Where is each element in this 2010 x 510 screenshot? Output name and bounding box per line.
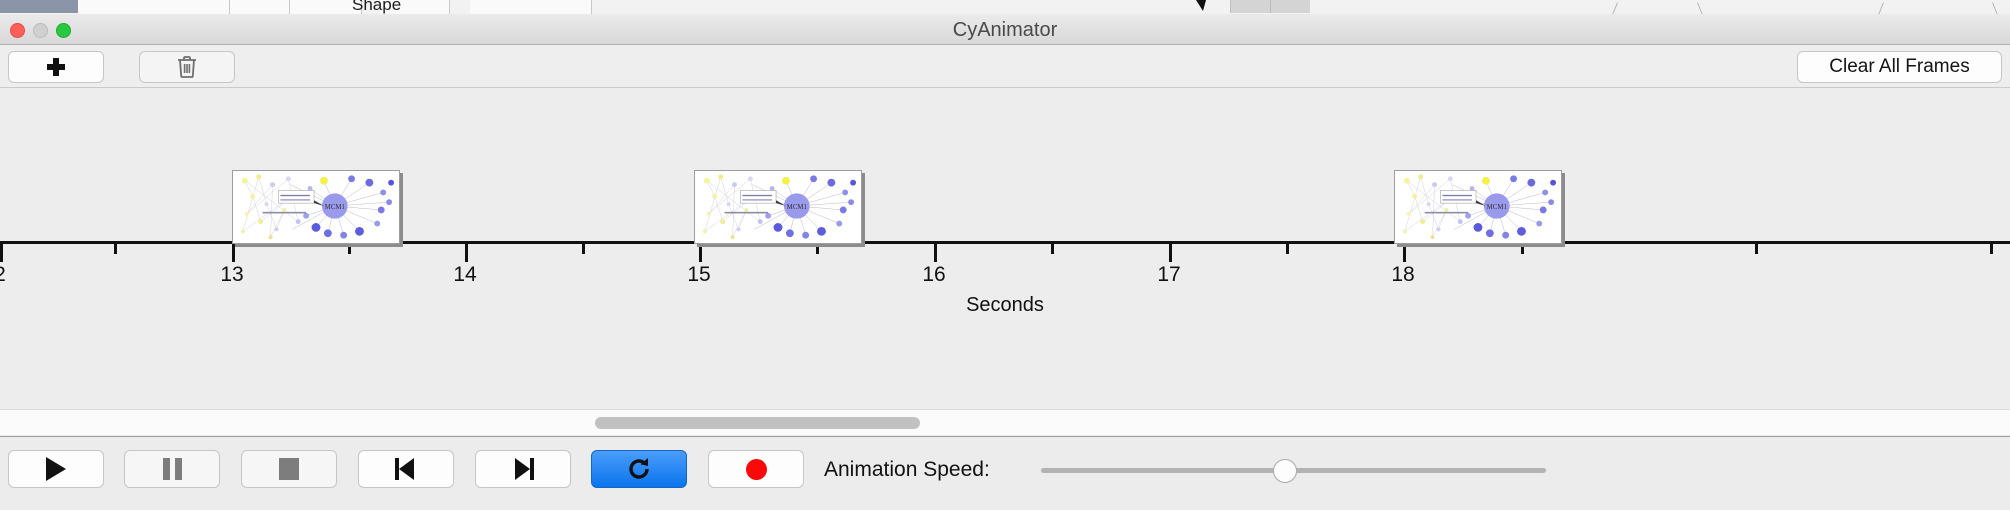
background-divider xyxy=(1697,2,1704,14)
skip-forward-icon xyxy=(512,458,534,480)
window-titlebar: CyAnimator xyxy=(0,14,2010,45)
background-divider xyxy=(1877,2,1884,14)
stop-icon xyxy=(279,458,299,480)
timeline-major-tick xyxy=(0,244,3,262)
timeline-tick-label: 15 xyxy=(687,263,710,287)
timeline-tick-label: 16 xyxy=(922,263,945,287)
svg-text:MCM1: MCM1 xyxy=(1487,204,1508,211)
play-button[interactable] xyxy=(8,450,104,488)
skip-back-icon xyxy=(395,458,417,480)
timeline-tick-label: 13 xyxy=(220,263,243,287)
timeline-tick-label: 17 xyxy=(1157,263,1180,287)
timeline-minor-tick xyxy=(582,244,585,254)
background-tab xyxy=(470,0,592,14)
animation-speed-slider-thumb[interactable] xyxy=(1273,459,1297,483)
timeline-minor-tick xyxy=(1051,244,1054,254)
timeline-scrollbar[interactable] xyxy=(0,409,2010,435)
timeline-track[interactable]: Seconds 2131415161718MCM1MCM1MCM1 xyxy=(0,89,2010,409)
timeline-tick-label: 18 xyxy=(1391,263,1414,287)
trash-icon xyxy=(176,55,198,79)
timeline-major-tick xyxy=(465,244,468,262)
pause-icon xyxy=(163,458,182,480)
background-divider xyxy=(1992,2,1999,14)
timeline-major-tick xyxy=(1403,244,1406,262)
scrollbar-thumb[interactable] xyxy=(595,417,920,429)
clear-all-frames-button[interactable]: Clear All Frames xyxy=(1797,51,2002,83)
transport-bar: Animation Speed: xyxy=(0,436,2010,510)
frame-thumbnail[interactable]: MCM1 xyxy=(694,170,862,244)
timeline-panel[interactable]: Seconds 2131415161718MCM1MCM1MCM1 xyxy=(0,89,2010,409)
frame-thumbnail[interactable]: MCM1 xyxy=(232,170,400,244)
pause-button[interactable] xyxy=(124,450,220,488)
play-icon xyxy=(46,457,66,481)
timeline-major-tick xyxy=(934,244,937,262)
window-title: CyAnimator xyxy=(0,19,2010,42)
background-tab xyxy=(230,0,290,14)
timeline-minor-tick xyxy=(816,244,819,254)
timeline-tick-label: 2 xyxy=(0,263,6,287)
background-toolbar-block xyxy=(1230,0,1270,13)
delete-frame-button[interactable] xyxy=(139,51,235,83)
timeline-major-tick xyxy=(232,244,235,262)
loop-button[interactable] xyxy=(591,450,687,488)
skip-end-button[interactable] xyxy=(475,450,571,488)
svg-text:MCM1: MCM1 xyxy=(787,204,808,211)
record-icon xyxy=(746,459,767,480)
timeline-minor-tick xyxy=(1755,244,1758,254)
timeline-major-tick xyxy=(1169,244,1172,262)
timeline-minor-tick xyxy=(1521,244,1524,254)
timeline-axis-title: Seconds xyxy=(0,294,2010,317)
background-window-titlebar-fragment xyxy=(0,0,78,13)
timeline-minor-tick xyxy=(348,244,351,254)
background-window-strip: Shape xyxy=(0,0,2010,14)
plus-icon xyxy=(47,58,65,76)
timeline-major-tick xyxy=(699,244,702,262)
record-button[interactable] xyxy=(708,450,804,488)
stop-button[interactable] xyxy=(241,450,337,488)
background-window-label: Shape xyxy=(352,0,401,14)
pointer-arrow-icon xyxy=(1196,0,1206,11)
timeline-tick-label: 14 xyxy=(453,263,476,287)
timeline-minor-tick xyxy=(1286,244,1289,254)
frame-toolbar: Clear All Frames xyxy=(0,46,2010,88)
svg-text:MCM1: MCM1 xyxy=(325,204,346,211)
background-divider xyxy=(1611,2,1618,14)
skip-start-button[interactable] xyxy=(358,450,454,488)
add-frame-button[interactable] xyxy=(8,51,104,83)
loop-icon xyxy=(626,456,652,482)
frame-thumbnail[interactable]: MCM1 xyxy=(1394,170,1562,244)
timeline-minor-tick xyxy=(114,244,117,254)
animation-speed-label: Animation Speed: xyxy=(824,458,990,482)
background-toolbar-block xyxy=(1270,0,1310,13)
background-tab xyxy=(78,0,230,14)
timeline-minor-tick xyxy=(1990,244,1993,254)
